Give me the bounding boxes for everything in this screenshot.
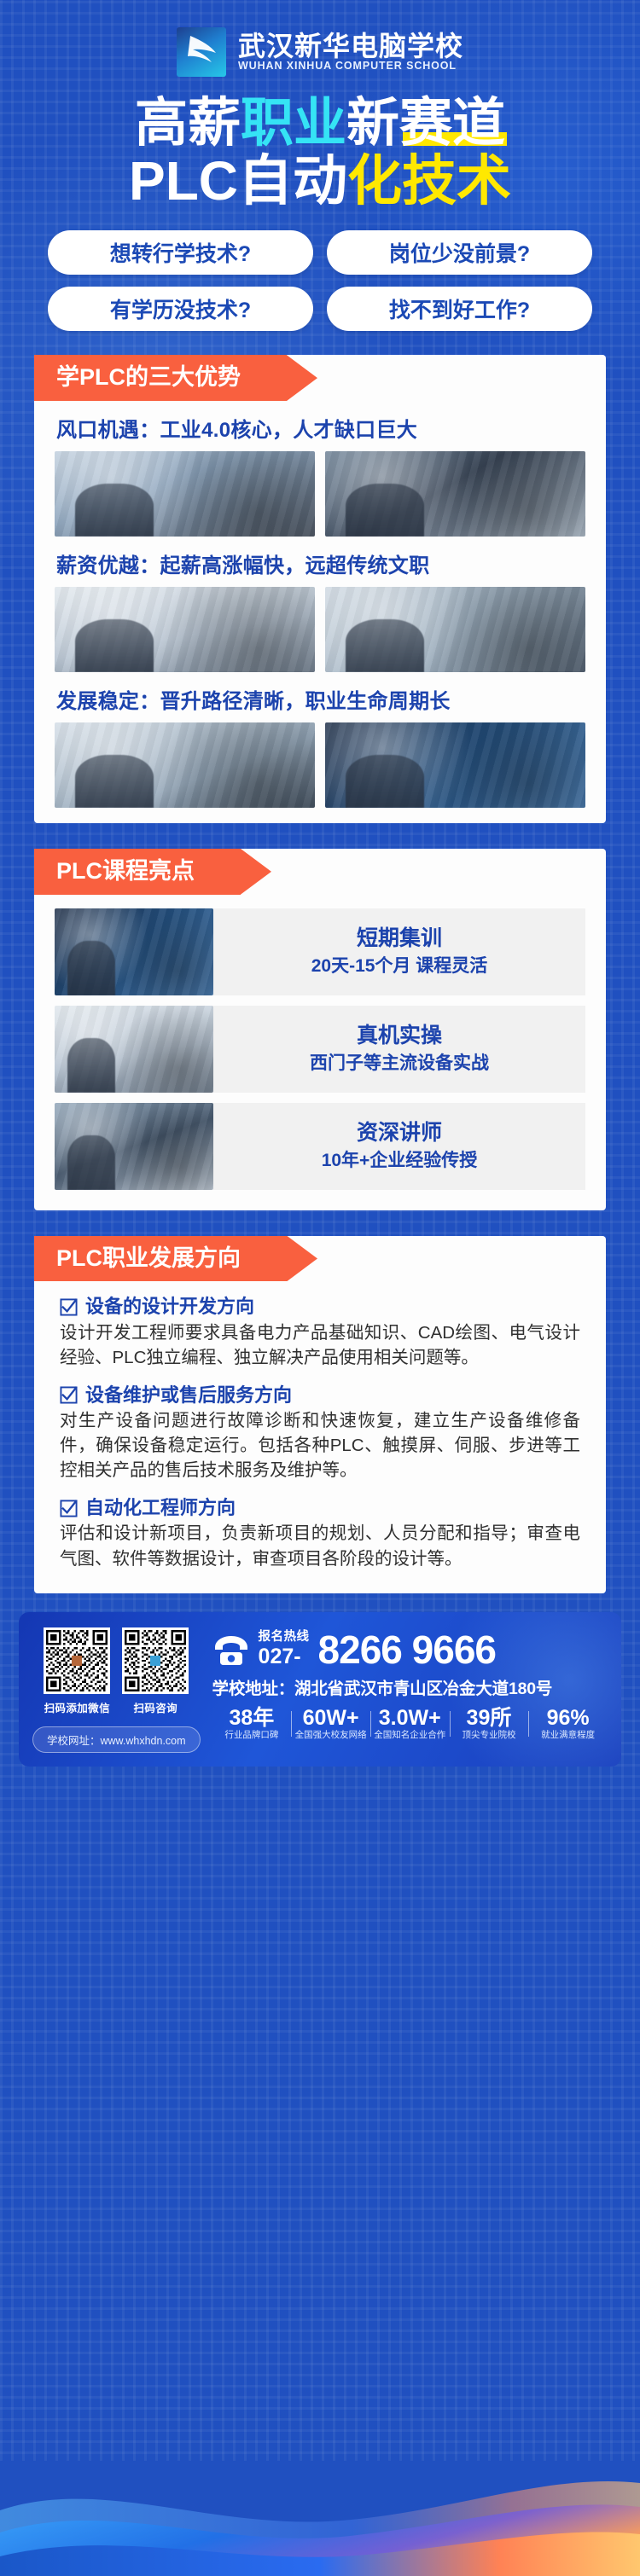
swoosh-logo-icon <box>177 27 226 77</box>
qr-consult-block: 扫码咨询 <box>122 1627 189 1715</box>
direction-item: 自动化工程师方向 评估和设计新项目，负责新项目的规划、人员分配和指导；审查电气图… <box>60 1498 580 1570</box>
classroom-students-photo <box>55 451 315 537</box>
directions-ribbon-wrap: PLC职业发展方向 <box>34 1236 606 1282</box>
course-highlight-body: 短期集训 20天-15个月 课程灵活 <box>213 908 585 995</box>
student-practice-photo <box>55 1006 213 1093</box>
contact-details: 报名热线 027- 8266 9666 学校地址：湖北省武汉市青山区冶金大道18… <box>212 1627 608 1740</box>
teacher-demo-photo <box>55 908 213 995</box>
course-highlight-title: 真机实操 <box>357 1024 442 1048</box>
direction-heading-row: 设备维护或售后服务方向 <box>60 1385 580 1406</box>
stat-label: 顶尖专业院校 <box>462 1731 515 1740</box>
stat-label: 行业品牌口碑 <box>224 1731 278 1740</box>
school-address: 学校地址：湖北省武汉市青山区冶金大道180号 <box>212 1674 608 1699</box>
factory-floor-photo <box>55 722 315 808</box>
qr-wechat-block: 扫码添加微信 <box>44 1627 110 1715</box>
qr-code-icon[interactable] <box>44 1627 110 1694</box>
phone-number[interactable]: 8266 9666 <box>318 1632 496 1668</box>
brand-name-en: WUHAN XINHUA COMPUTER SCHOOL <box>238 61 463 72</box>
advantages-card: 学PLC的三大优势 风口机遇：工业4.0核心，人才缺口巨大 薪资优越：起薪高涨幅… <box>34 355 606 823</box>
stat-label: 全国强大校友网络 <box>295 1731 367 1740</box>
plc-workstation-photo <box>325 587 585 672</box>
stat-item: 3.0W+ 全国知名企业合作 <box>370 1708 450 1740</box>
course-highlight-item: 真机实操 西门子等主流设备实战 <box>55 1006 585 1093</box>
course-highlight-subtitle: 西门子等主流设备实战 <box>310 1053 489 1073</box>
advantage-title: 发展稳定：晋升路径清晰，职业生命周期长 <box>55 672 585 722</box>
advantage-title: 薪资优越：起薪高涨幅快，远超传统文职 <box>55 537 585 587</box>
checkbox-checked-icon <box>60 1386 78 1404</box>
stat-item: 39所 顶尖专业院校 <box>450 1708 529 1740</box>
advantage-photo-row <box>55 587 585 672</box>
headline-seg-2: 职业 <box>241 94 346 153</box>
brand-name-cn: 武汉新华电脑学校 <box>238 32 463 60</box>
advantage-photo-row <box>55 451 585 537</box>
course-highlight-title: 资深讲师 <box>357 1122 442 1146</box>
advantage-item: 风口机遇：工业4.0核心，人才缺口巨大 <box>34 401 606 537</box>
area-code: 027- <box>259 1646 310 1668</box>
hotline-label: 报名热线 <box>259 1631 310 1644</box>
machine-training-photo <box>55 1103 213 1190</box>
headline-seg-4: 赛道 <box>399 96 505 151</box>
headline-line-2: PLC自动化技术 <box>0 153 640 210</box>
website-link[interactable]: 学校网址：www.whxhdn.com <box>32 1726 201 1753</box>
stat-value: 38年 <box>229 1708 274 1729</box>
direction-heading-row: 设备的设计开发方向 <box>60 1297 580 1317</box>
advantage-title: 风口机遇：工业4.0核心，人才缺口巨大 <box>55 401 585 451</box>
phone-row: 报名热线 027- 8266 9666 <box>212 1631 608 1668</box>
stat-value: 39所 <box>467 1708 512 1729</box>
course-highlight-list: 短期集训 20天-15个月 课程灵活 真机实操 西门子等主流设备实战 资深讲师 … <box>34 895 606 1195</box>
advantage-item: 薪资优越：起薪高涨幅快，远超传统文职 <box>34 537 606 672</box>
brand-header: 武汉新华电脑学校 WUHAN XINHUA COMPUTER SCHOOL <box>0 0 640 82</box>
stat-value: 96% <box>547 1708 590 1729</box>
direction-item: 设备的设计开发方向 设计开发工程师要求具备电力产品基础知识、CAD绘图、电气设计… <box>60 1297 580 1369</box>
headline-seg-7: 化技术 <box>347 150 511 212</box>
direction-list: 设备的设计开发方向 设计开发工程师要求具备电力产品基础知识、CAD绘图、电气设计… <box>34 1281 606 1577</box>
direction-item: 设备维护或售后服务方向 对生产设备问题进行故障诊断和快速恢复，建立生产设备维修备… <box>60 1385 580 1483</box>
course-highlight-title: 短期集训 <box>357 927 442 951</box>
qr-column: 扫码添加微信 <box>32 1627 201 1753</box>
headline-seg-3: 新 <box>346 94 399 153</box>
stat-item: 96% 就业满意程度 <box>528 1708 608 1740</box>
qr-code-icon[interactable] <box>122 1627 189 1694</box>
stats-row: 38年 行业品牌口碑 60W+ 全国强大校友网络 3.0W+ 全国知名企业合作 … <box>212 1708 608 1740</box>
course-highlight-subtitle: 20天-15个月 课程灵活 <box>311 956 488 976</box>
question-pill[interactable]: 岗位少没前景? <box>327 230 592 275</box>
question-pill[interactable]: 想转行学技术? <box>48 230 313 275</box>
direction-title: 设备维护或售后服务方向 <box>85 1385 292 1406</box>
lab-equipment-photo <box>325 451 585 537</box>
course-highlight-subtitle: 10年+企业经验传授 <box>322 1151 478 1170</box>
stat-item: 38年 行业品牌口碑 <box>212 1708 292 1740</box>
advantage-photo-row <box>55 722 585 808</box>
checkbox-checked-icon <box>60 1298 78 1316</box>
course-ribbon-wrap: PLC课程亮点 <box>34 849 606 895</box>
question-pill-group: 想转行学技术? 岗位少没前景? 有学历没技术? 找不到好工作? <box>0 210 640 331</box>
direction-body: 评估和设计新项目，负责新项目的规划、人员分配和指导；审查电气图、软件等数据设计，… <box>60 1521 580 1570</box>
stat-label: 就业满意程度 <box>541 1731 595 1740</box>
advantages-ribbon-wrap: 学PLC的三大优势 <box>34 355 606 401</box>
course-highlight-item: 短期集训 20天-15个月 课程灵活 <box>55 908 585 995</box>
checkbox-checked-icon <box>60 1500 78 1517</box>
career-directions-card: PLC职业发展方向 设备的设计开发方向 设计开发工程师要求具备电力产品基础知识、… <box>34 1236 606 1593</box>
advantages-ribbon-title: 学PLC的三大优势 <box>34 355 287 401</box>
course-highlight-body: 资深讲师 10年+企业经验传授 <box>213 1103 585 1190</box>
telephone-icon <box>212 1633 250 1668</box>
headline-seg-5: PLC <box>129 150 238 212</box>
question-pill[interactable]: 找不到好工作? <box>327 287 592 331</box>
stat-value: 60W+ <box>303 1708 359 1729</box>
stat-value: 3.0W+ <box>379 1708 441 1729</box>
course-highlight-body: 真机实操 西门子等主流设备实战 <box>213 1006 585 1093</box>
question-pill[interactable]: 有学历没技术? <box>48 287 313 331</box>
instructor-screen-photo <box>325 722 585 808</box>
headline-seg-1: 高薪 <box>135 94 241 153</box>
phone-label-block: 报名热线 027- <box>259 1631 310 1668</box>
training-room-photo <box>55 587 315 672</box>
direction-heading-row: 自动化工程师方向 <box>60 1498 580 1518</box>
direction-title: 自动化工程师方向 <box>85 1498 236 1518</box>
qr-pair: 扫码添加微信 <box>44 1627 189 1715</box>
advantage-item: 发展稳定：晋升路径清晰，职业生命周期长 <box>34 672 606 808</box>
directions-ribbon-title: PLC职业发展方向 <box>34 1236 287 1282</box>
headline-seg-6: 自动 <box>238 150 347 212</box>
course-highlight-item: 资深讲师 10年+企业经验传授 <box>55 1103 585 1190</box>
stat-item: 60W+ 全国强大校友网络 <box>291 1708 370 1740</box>
direction-body: 对生产设备问题进行故障诊断和快速恢复，建立生产设备维修备件，确保设备稳定运行。包… <box>60 1408 580 1482</box>
headline: 高薪职业新赛道 PLC自动化技术 <box>0 82 640 210</box>
direction-body: 设计开发工程师要求具备电力产品基础知识、CAD绘图、电气设计经验、PLC独立编程… <box>60 1320 580 1370</box>
course-highlights-card: PLC课程亮点 短期集训 20天-15个月 课程灵活 真机实操 西门子等主流设备… <box>34 849 606 1210</box>
contact-footer: 扫码添加微信 <box>19 1612 621 1767</box>
qr-consult-caption: 扫码咨询 <box>133 1699 177 1715</box>
qr-wechat-caption: 扫码添加微信 <box>44 1699 110 1715</box>
bottom-wave-decoration <box>0 2461 640 2576</box>
course-ribbon-title: PLC课程亮点 <box>34 849 241 895</box>
stat-label: 全国知名企业合作 <box>374 1731 445 1740</box>
headline-line-1: 高薪职业新赛道 <box>0 96 640 151</box>
poster-page: 武汉新华电脑学校 WUHAN XINHUA COMPUTER SCHOOL 高薪… <box>0 0 640 2576</box>
direction-title: 设备的设计开发方向 <box>85 1297 254 1317</box>
